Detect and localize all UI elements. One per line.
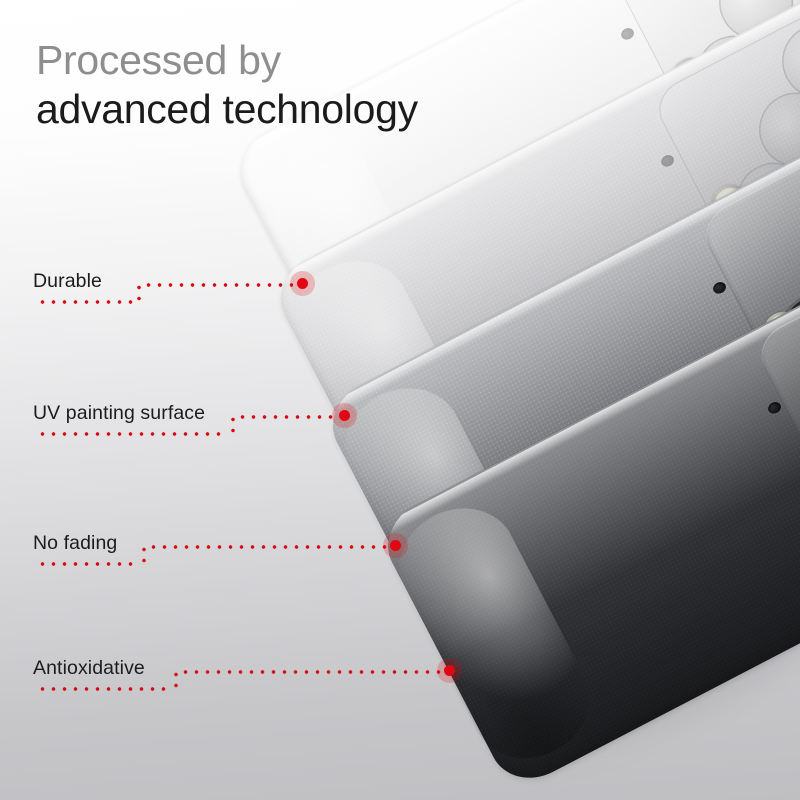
- product-marketing-image: Processed by advanced technology Durable…: [0, 0, 800, 800]
- callout-elbow: [174, 669, 178, 689]
- callout-leader-line: [237, 415, 337, 419]
- callout-elbow: [137, 282, 141, 302]
- callout-underline: [37, 432, 227, 436]
- callout-marker-dot: [297, 278, 308, 289]
- callout-leader-line: [148, 545, 388, 549]
- feature-callouts: DurableUV painting surfaceNo fadingAntio…: [0, 0, 800, 800]
- callout-underline: [37, 562, 139, 566]
- callout-marker-dot: [339, 410, 350, 421]
- callout-leader-line: [180, 670, 442, 674]
- callout-underline: [37, 687, 172, 691]
- callout-marker-dot: [390, 540, 401, 551]
- callout-elbow: [231, 414, 235, 434]
- callout-marker-dot: [444, 665, 455, 676]
- callout-elbow: [142, 544, 146, 564]
- callout-label: Durable: [33, 270, 102, 293]
- callout-underline: [37, 300, 133, 304]
- callout-leader-line: [143, 283, 293, 287]
- callout-label: Antioxidative: [33, 657, 145, 680]
- callout-label: No fading: [33, 532, 117, 555]
- callout-label: UV painting surface: [33, 402, 205, 425]
